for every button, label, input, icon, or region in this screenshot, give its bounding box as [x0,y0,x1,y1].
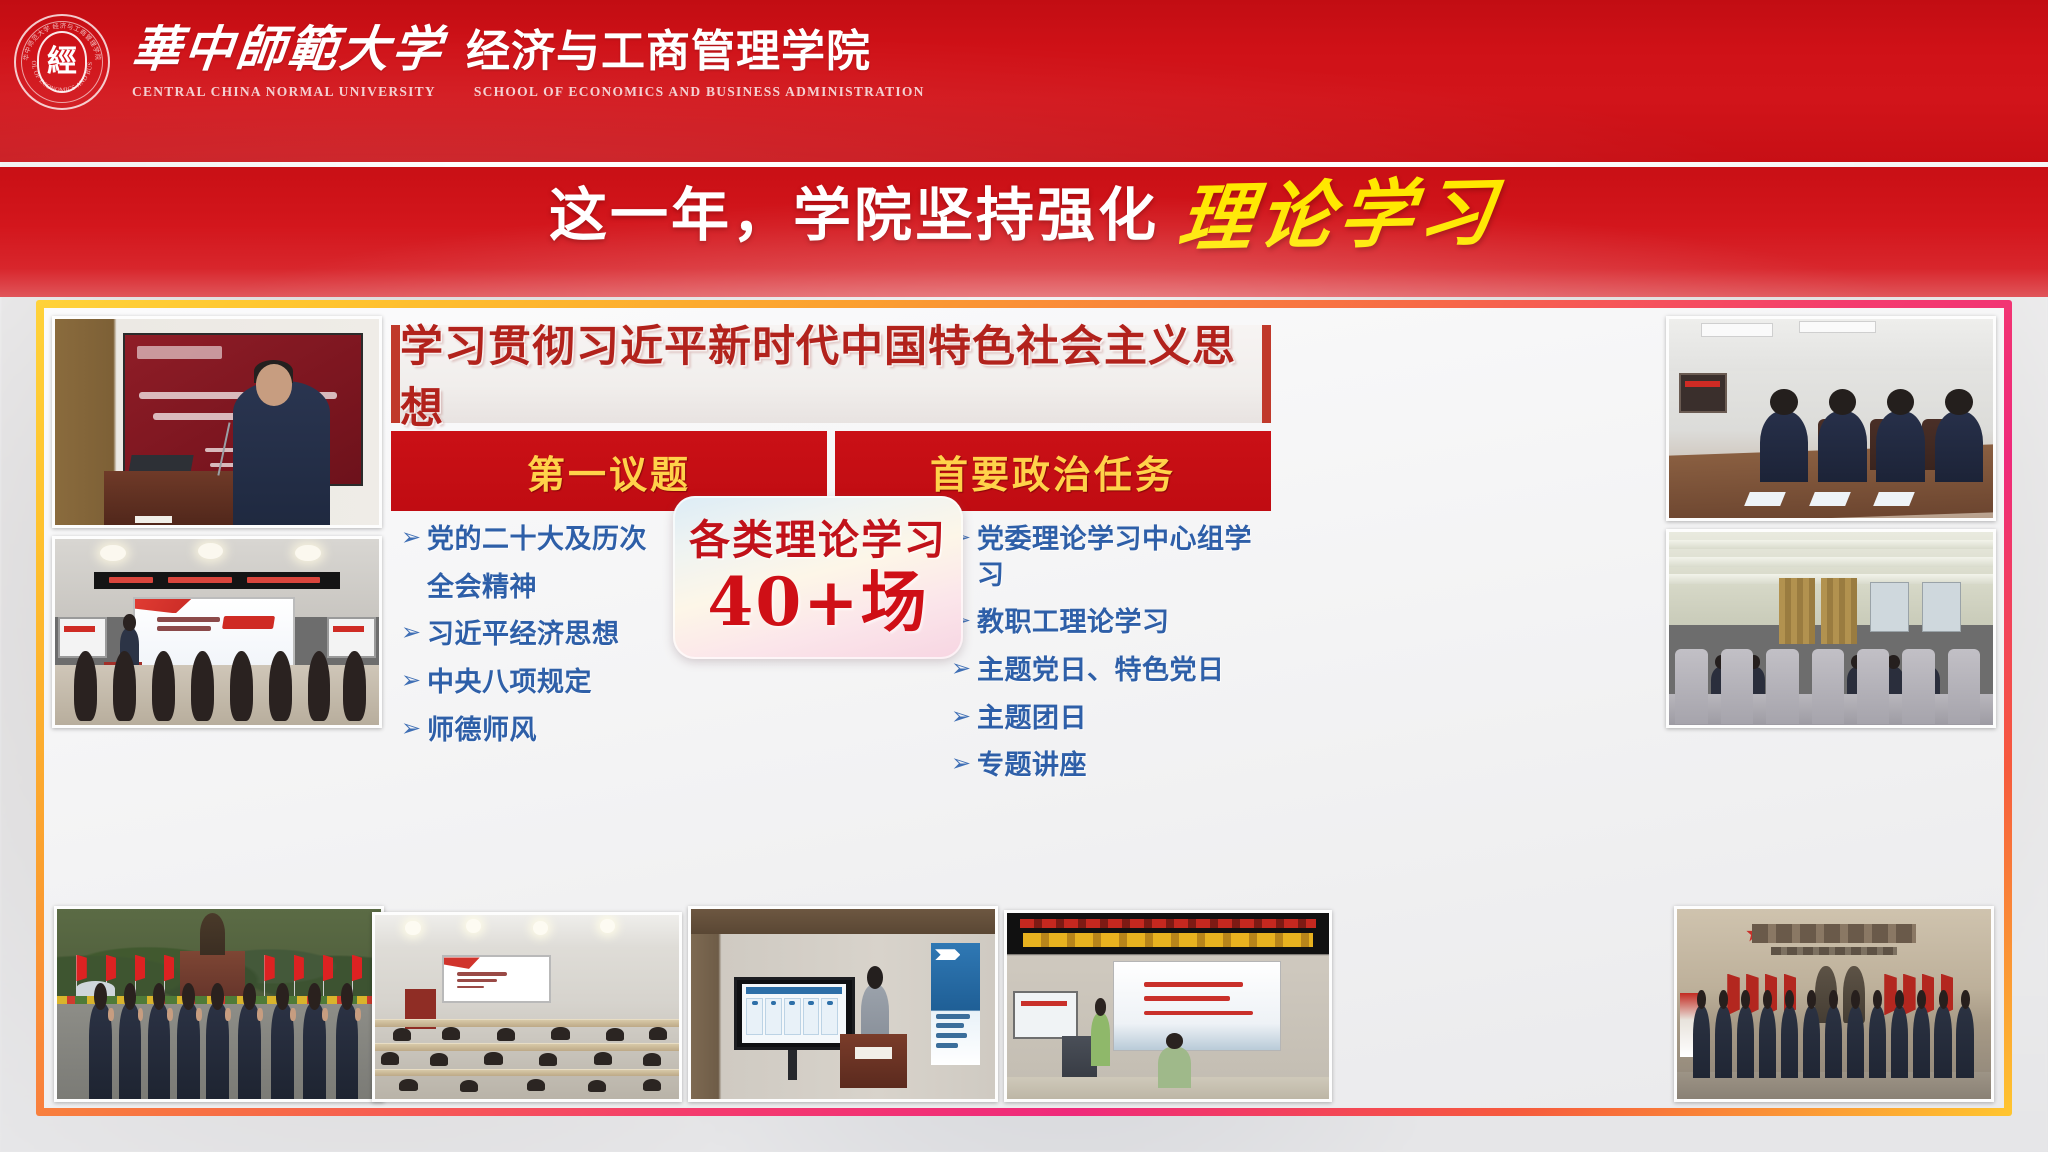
photo-bottom-led-meeting[interactable]: 经管学院 2025-2026 学年度第一学期全体教职工大会 [1004,910,1332,1102]
list-item[interactable]: ➢ 全会精神 [401,570,651,606]
list-item-label: 习近平经济思想 [427,617,620,653]
list-item-label: 中央八项规定 [427,665,592,701]
list-item[interactable]: ➢ 习近平经济思想 [401,617,651,653]
list-item[interactable]: ➢ 中央八项规定 [401,665,651,701]
photo-left-top[interactable]: 讲座报告：学习党的二十届四中全会精神 [52,316,382,528]
seal-center: 經 [37,31,87,93]
list-item-label: 全会精神 [427,570,537,606]
chevron-right-icon: ➢ [401,713,427,743]
list-item[interactable]: ➢ 主题团日 [951,701,1271,737]
statistic-badge: 各类理论学习 40+场 [673,496,963,659]
bullet-list-right: ➢ 党委理论学习中心组学习 ➢ 教职工理论学习 ➢ 主题党日、特色党日 ➢ 主题… [951,522,1271,796]
svg-text:华中师范大学 经济与工商管理学院: 华中师范大学 经济与工商管理学院 [21,21,103,61]
list-item-label: 教职工理论学习 [977,605,1170,641]
slide-root: 华中师范大学 经济与工商管理学院 SCHOOL OF ECONOMICS AND… [0,0,2048,1152]
photo-right-bottom[interactable]: 教职工大会报告厅集会 [1666,529,1996,728]
title-band: 这一年，学院坚持强化 理论学习 [0,167,2048,297]
chevron-right-icon: ➢ [951,748,977,778]
photo-left-bottom[interactable]: “十五五”时期经济社会发展的指导方针宣讲 [52,536,382,728]
chevron-right-icon: ➢ [401,522,427,552]
bullet-list-left: ➢ 党的二十大及历次 ➢ 全会精神 ➢ 习近平经济思想 ➢ 中央八项规定 [401,522,651,760]
content-frame: 讲座报告：学习党的二十届四中全会精神 [36,300,2012,1116]
university-name-cn: 華中師範大学 [129,25,446,74]
content-frame-inner: 讲座报告：学习党的二十届四中全会精神 [44,308,2004,1108]
statistic-badge-label: 各类理论学习 [689,520,947,561]
list-item[interactable]: ➢ 党的二十大及历次 [401,522,651,558]
photo-bottom-classroom[interactable]: 课堂理论学习宣讲 [372,912,682,1102]
photo-right-top[interactable]: 党委理论学习中心组会议 [1666,316,1996,521]
list-item[interactable]: ➢ 师德师风 [401,713,651,749]
main-heading-text: 学习贯彻习近平新时代中国特色社会主义思想 [400,312,1262,436]
school-name-en: SCHOOL OF ECONOMICS AND BUSINESS ADMINIS… [474,84,925,100]
list-item-label: 党委理论学习中心组学习 [977,522,1271,593]
list-item-label: 党的二十大及历次 [427,522,647,558]
list-item[interactable]: ➢ 专题讲座 [951,748,1271,784]
list-item-label: 师德师风 [427,713,537,749]
header-brand: 华中师范大学 经济与工商管理学院 SCHOOL OF ECONOMICS AND… [14,14,925,110]
seal-arc-text: 华中师范大学 经济与工商管理学院 SCHOOL OF ECONOMICS AND… [14,14,110,110]
slide-title-highlight: 理论学习 [1174,176,1504,257]
svg-text:SCHOOL OF ECONOMICS AND BUSINE: SCHOOL OF ECONOMICS AND BUSINESS [14,14,94,94]
seal-glyph: 經 [47,47,77,77]
bottom-photo-row: 户外主题党日：重温入党誓词 [52,906,1996,1102]
chevron-right-icon: ➢ [401,665,427,695]
red-box-political-task-label: 首要政治任务 [930,444,1176,499]
list-item-label: 主题党日、特色党日 [977,653,1225,689]
list-item[interactable]: ➢ 党委理论学习中心组学习 [951,522,1271,593]
list-item[interactable]: ➢ 主题党日、特色党日 [951,653,1271,689]
list-item[interactable]: ➢ 教职工理论学习 [951,605,1271,641]
chevron-right-icon: ➢ [951,701,977,731]
photo-bottom-presentation[interactable]: 专题讲座：社会环境多变 [688,906,998,1102]
page-header: 华中师范大学 经济与工商管理学院 SCHOOL OF ECONOMICS AND… [0,0,2048,162]
list-item-label: 主题团日 [977,701,1087,737]
header-text-block: 華中師範大学 经济与工商管理学院 CENTRAL CHINA NORMAL UN… [132,25,925,100]
photo-bottom-group[interactable]: 参观红色教育基地集体合影 [1674,906,1994,1102]
school-name-cn: 经济与工商管理学院 [466,30,871,74]
statistic-badge-count: 40+场 [707,569,928,635]
chevron-right-icon: ➢ [951,653,977,683]
university-seal-icon: 华中师范大学 经济与工商管理学院 SCHOOL OF ECONOMICS AND… [14,14,110,110]
center-column: 学习贯彻习近平新时代中国特色社会主义思想 第一议题 首要政治任务 ➢ 党的二十大… [391,316,1271,976]
slide-title-main: 这一年，学院坚持强化 [549,181,1159,251]
list-item-label: 专题讲座 [977,748,1087,784]
main-heading-banner: 学习贯彻习近平新时代中国特色社会主义思想 [391,325,1271,423]
university-name-en: CENTRAL CHINA NORMAL UNIVERSITY [132,84,436,100]
red-box-first-topic-label: 第一议题 [527,444,691,499]
chevron-right-icon: ➢ [401,617,427,647]
photo-bottom-memorial[interactable]: 户外主题党日：重温入党誓词 [54,906,384,1102]
